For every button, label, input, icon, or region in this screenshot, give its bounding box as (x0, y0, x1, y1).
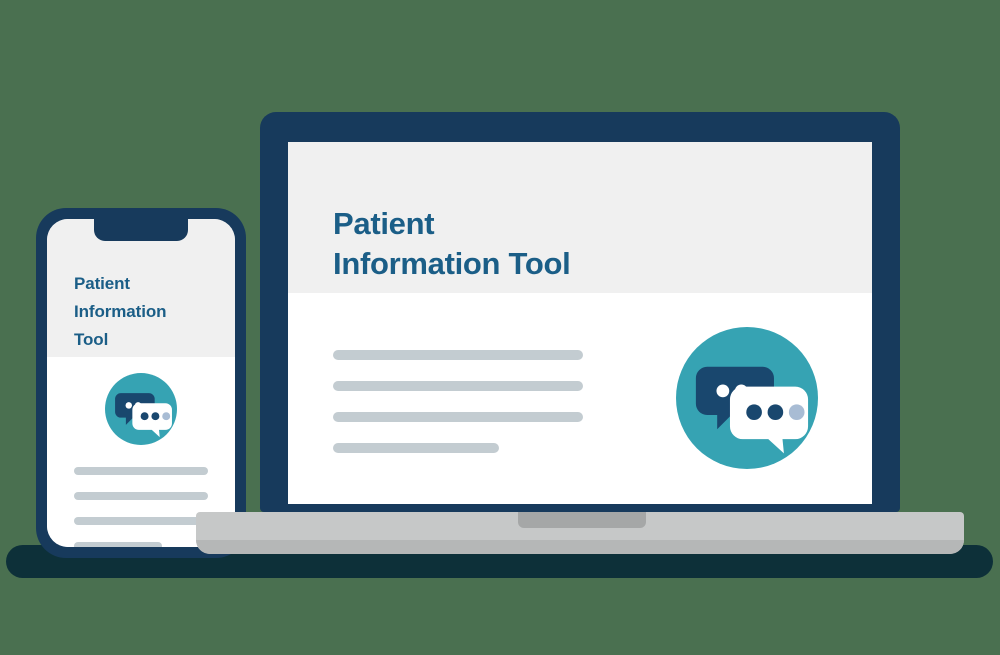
laptop-placeholder-line-1 (333, 350, 583, 360)
laptop-title-line-2: Information Tool (333, 244, 763, 284)
laptop-placeholder-line-4 (333, 443, 499, 453)
laptop-base-lip (196, 540, 964, 554)
laptop-placeholder-lines (333, 350, 583, 474)
laptop-device: Patient Information Tool (260, 112, 900, 532)
phone-title-line-1: Patient (74, 270, 224, 298)
laptop-trackpad-notch (518, 512, 646, 528)
phone-placeholder-line-2 (74, 492, 208, 500)
phone-notch (94, 219, 188, 241)
laptop-screen: Patient Information Tool (288, 142, 872, 504)
phone-device: Patient Information Tool (36, 208, 246, 558)
phone-page-title: Patient Information Tool (74, 270, 224, 354)
phone-placeholder-line-1 (74, 467, 208, 475)
chat-bubbles-icon (105, 373, 177, 445)
phone-title-line-3: Tool (74, 326, 224, 354)
laptop-placeholder-line-3 (333, 412, 583, 422)
phone-screen: Patient Information Tool (47, 219, 235, 547)
laptop-page-title: Patient Information Tool (333, 204, 763, 284)
phone-placeholder-line-3 (74, 517, 208, 525)
chat-bubbles-icon (676, 327, 818, 469)
phone-placeholder-lines (74, 467, 208, 547)
phone-title-line-2: Information (74, 298, 224, 326)
laptop-screen-content (288, 293, 872, 504)
illustration-scene: Patient Information Tool (0, 0, 1000, 655)
laptop-placeholder-line-2 (333, 381, 583, 391)
phone-placeholder-line-4 (74, 542, 162, 547)
laptop-title-line-1: Patient (333, 204, 763, 244)
